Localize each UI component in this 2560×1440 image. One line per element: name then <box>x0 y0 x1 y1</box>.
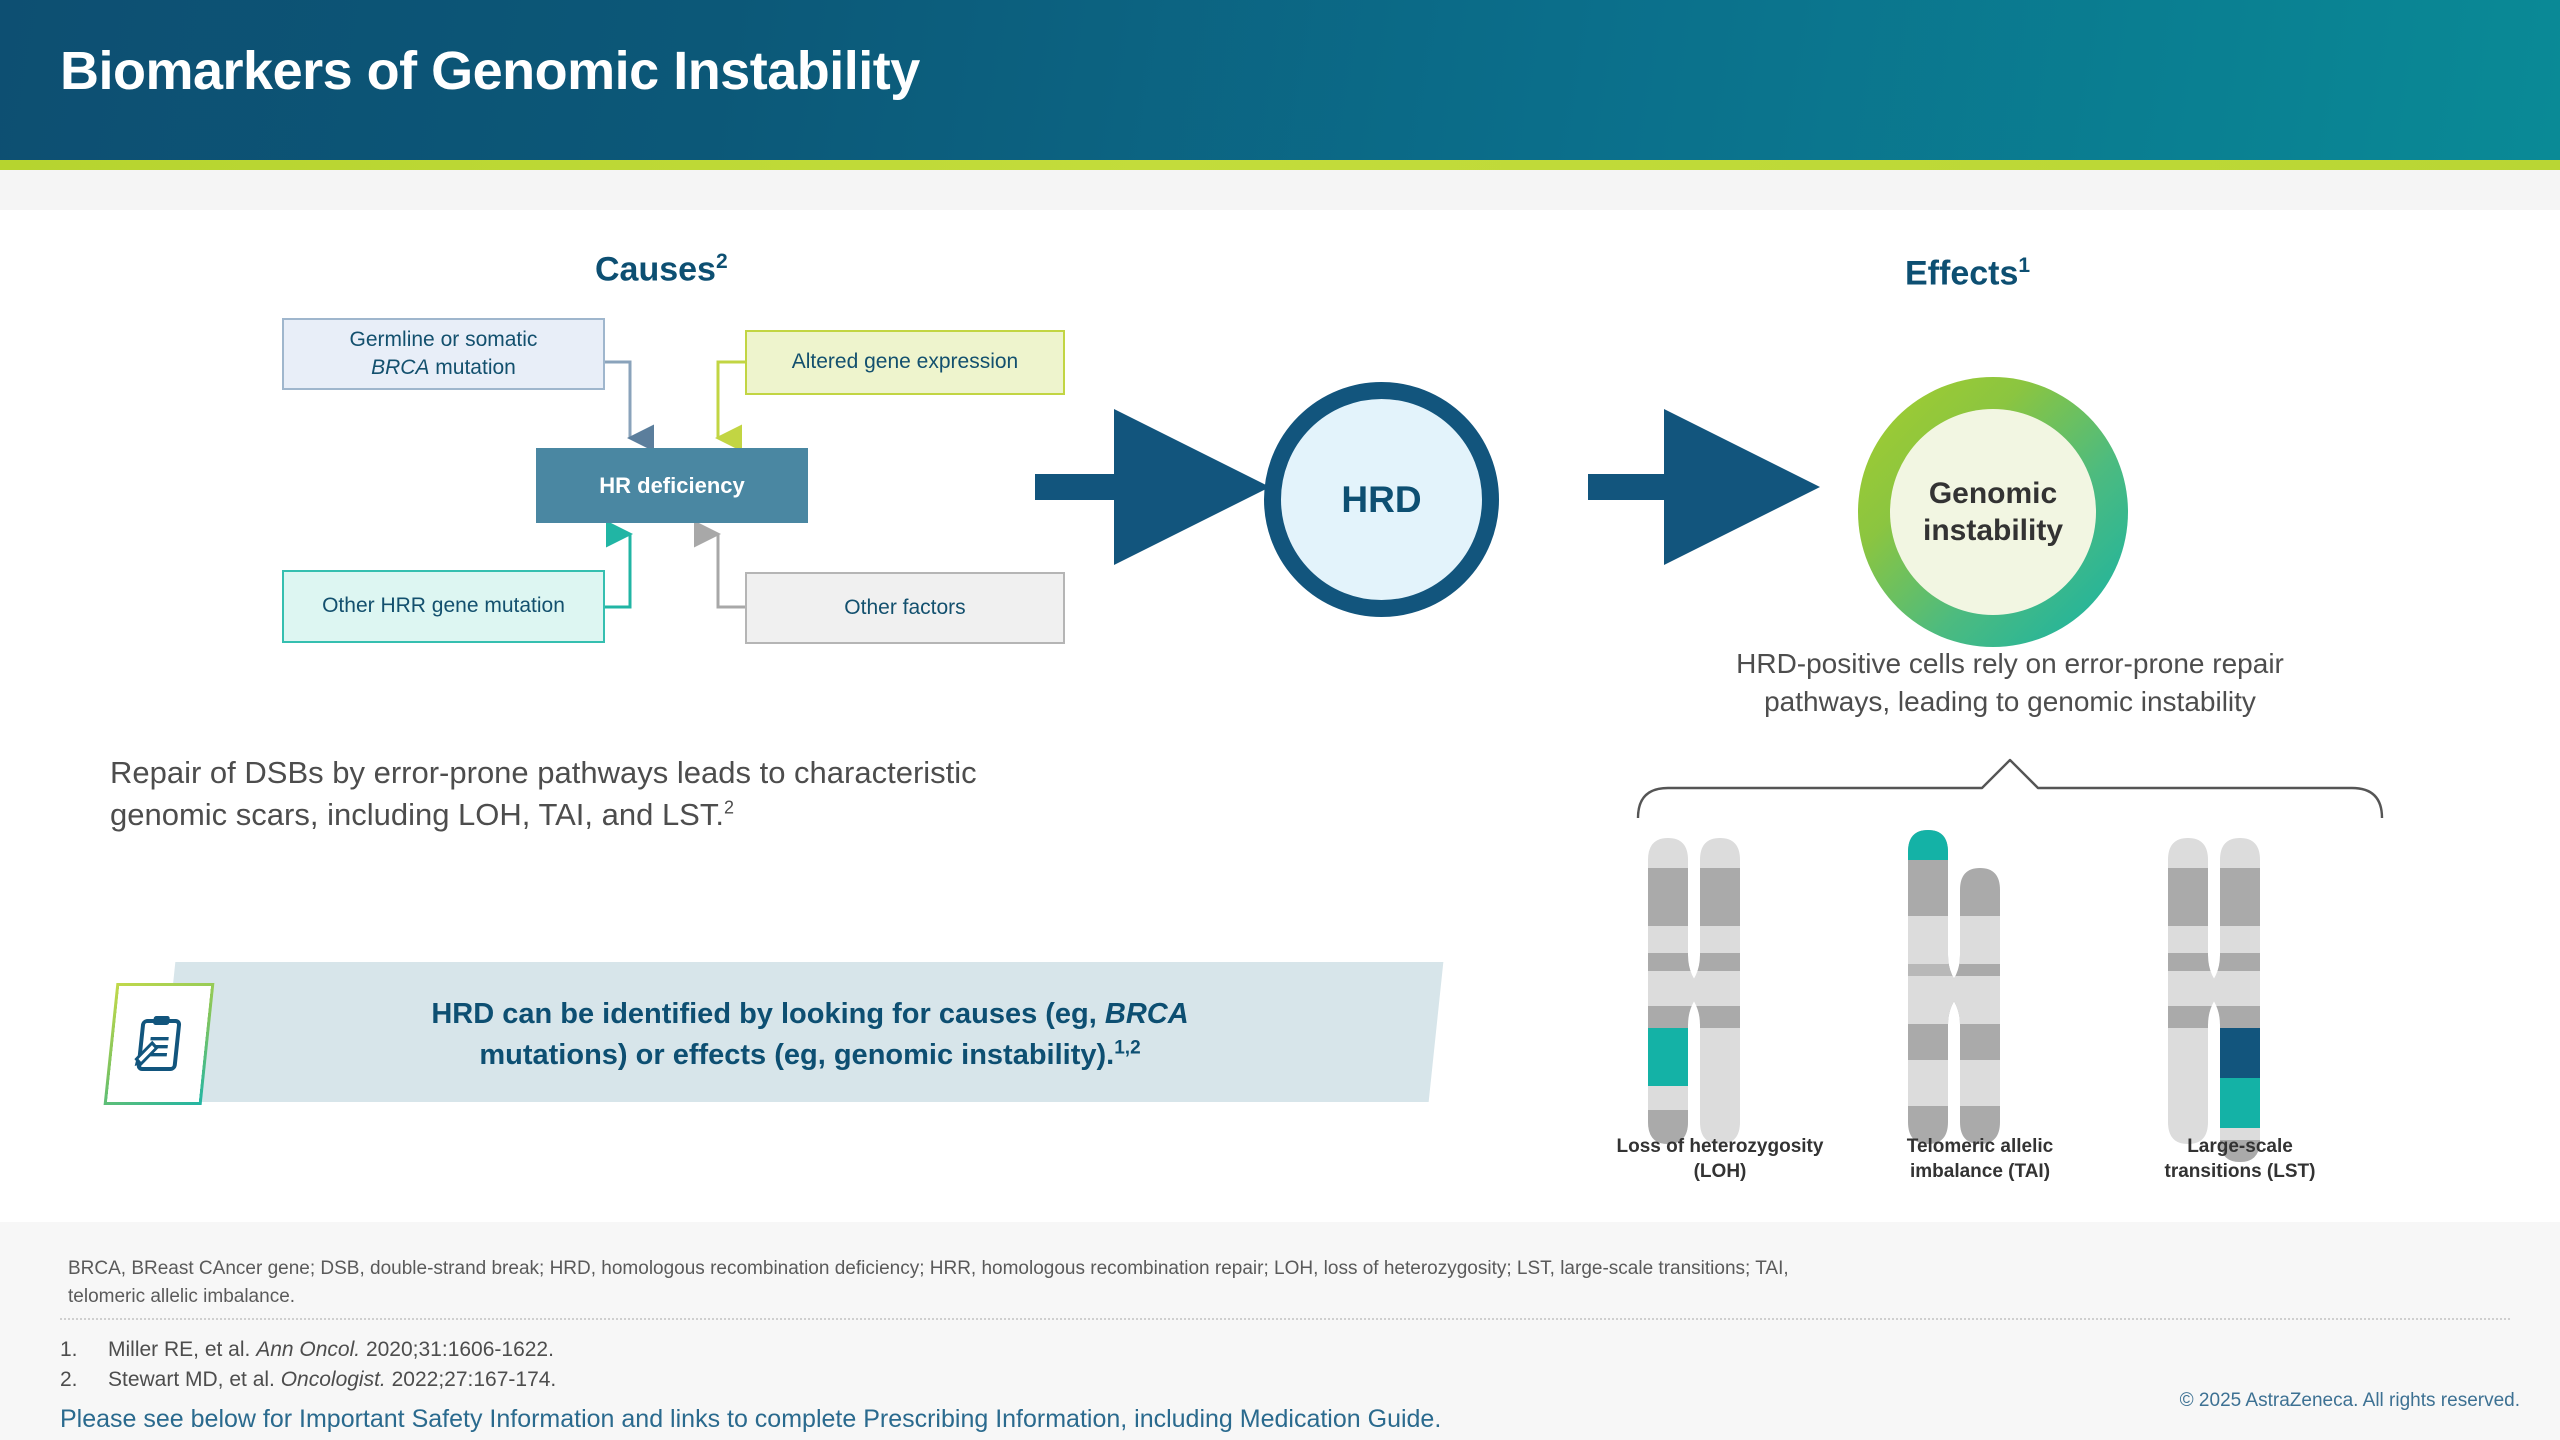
chromosome-label-lst: Large-scale transitions (LST) <box>2115 1135 2365 1184</box>
slide-root: Biomarkers of Genomic Instability Causes… <box>0 0 2560 1440</box>
cause-box-other-label: Other factors <box>844 594 965 622</box>
genomic-instability-inner: Genomic instability <box>1890 409 2096 615</box>
cause-box-altered-gene-expression[interactable]: Altered gene expression <box>745 330 1065 395</box>
chromosome-label-tai: Telomeric allelic imbalance (TAI) <box>1855 1135 2105 1184</box>
genomic-instability-label: Genomic instability <box>1923 475 2063 550</box>
hr-deficiency-box[interactable]: HR deficiency <box>536 448 808 523</box>
chromosome-lst <box>2160 838 2268 1180</box>
genomic-instability-ring[interactable]: Genomic instability <box>1858 377 2128 647</box>
cause-box-germline-brca[interactable]: Germline or somatic BRCA mutation <box>282 318 605 390</box>
reference-item-2: 2.Stewart MD, et al. Oncologist. 2022;27… <box>60 1368 556 1392</box>
callout-brca-italic: BRCA <box>1105 998 1189 1030</box>
footnote-divider <box>60 1318 2510 1320</box>
causes-heading-text: Causes <box>595 250 716 288</box>
cause-box-hrr-label: Other HRR gene mutation <box>322 592 565 620</box>
abbreviations-footnote: BRCA, BReast CAncer gene; DSB, double-st… <box>68 1255 2388 1310</box>
causes-heading: Causes2 <box>595 250 728 289</box>
chromosome-tai <box>1900 825 2008 1144</box>
dsb-superscript: 2 <box>724 798 734 818</box>
important-safety-information-link[interactable]: Please see below for Important Safety In… <box>60 1405 1441 1434</box>
cause-box-other-factors[interactable]: Other factors <box>745 572 1065 644</box>
causes-heading-superscript: 2 <box>716 250 728 273</box>
chromosome-loh <box>1640 838 1748 1148</box>
cause-box-other-hrr-gene-mutation[interactable]: Other HRR gene mutation <box>282 570 605 643</box>
hrd-circle-node[interactable]: HRD <box>1264 382 1499 617</box>
header-accent-bar <box>0 160 2560 170</box>
callout-icon-frame <box>104 983 215 1105</box>
hrd-positive-caption: HRD-positive cells rely on error-prone r… <box>1640 645 2380 721</box>
cause-box-altered-label: Altered gene expression <box>792 348 1018 376</box>
brca-italic: BRCA <box>371 356 429 379</box>
hrd-circle-label: HRD <box>1341 479 1421 521</box>
hr-deficiency-label: HR deficiency <box>599 471 745 501</box>
callout-superscript: 1,2 <box>1114 1038 1140 1059</box>
dsb-repair-text: Repair of DSBs by error-prone pathways l… <box>110 752 1250 836</box>
reference-item-1: 1.Miller RE, et al. Ann Oncol. 2020;31:1… <box>60 1338 554 1362</box>
callout-text: HRD can be identified by looking for cau… <box>300 994 1320 1076</box>
effects-heading-text: Effects <box>1905 254 2018 292</box>
effects-heading: Effects1 <box>1905 254 2030 293</box>
subheader-band <box>0 170 2560 210</box>
page-title: Biomarkers of Genomic Instability <box>60 40 920 102</box>
slide-header: Biomarkers of Genomic Instability <box>0 0 2560 160</box>
cause-box-germline-label: Germline or somatic BRCA mutation <box>350 326 538 383</box>
copyright-notice: © 2025 AstraZeneca. All rights reserved. <box>2180 1390 2520 1412</box>
clipboard-icon <box>133 1015 185 1073</box>
brace-icon <box>1638 760 2382 818</box>
effects-heading-superscript: 1 <box>2018 254 2030 277</box>
chromosome-label-loh: Loss of heterozygosity (LOH) <box>1595 1135 1845 1184</box>
